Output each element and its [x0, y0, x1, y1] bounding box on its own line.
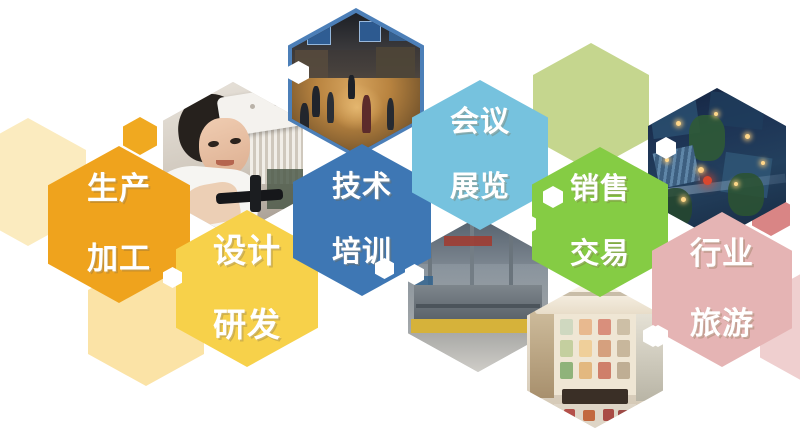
- showroom-product-grid: [560, 319, 631, 379]
- hex-sales-label: 销售 交易: [570, 147, 630, 297]
- decor-hex-green-pale-top: [533, 43, 649, 171]
- hexagon-infographic: 生产 加工 设计 研发 技术 培训 会议 展览 销售 交易 行业 旅游: [0, 0, 800, 424]
- hex-sales[interactable]: 销售 交易: [532, 147, 668, 297]
- hex-exhibition[interactable]: 会议 展览: [412, 80, 548, 230]
- hex-design-label: 设计 研发: [213, 210, 281, 367]
- hex-exhibition-label: 会议 展览: [450, 80, 510, 230]
- hex-production-label: 生产 加工: [87, 146, 151, 303]
- hex-tourism-label: 行业 旅游: [690, 212, 754, 367]
- decor-hex-orange-small: [123, 117, 157, 155]
